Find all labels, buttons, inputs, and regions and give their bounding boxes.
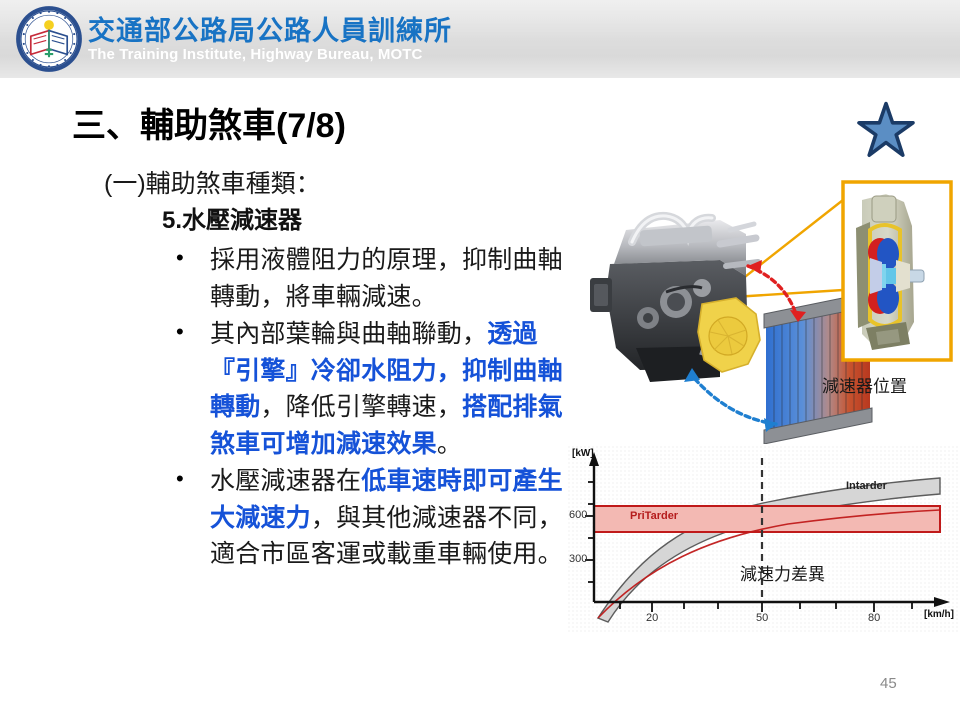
- bullet-marker-icon: •: [174, 463, 210, 495]
- bullet-text: 採用液體阻力的原理，抑制曲軸轉動，將車輛減速。: [210, 242, 564, 315]
- page-number: 45: [880, 675, 897, 692]
- engine-retarder-diagram: [570, 172, 956, 444]
- y-tick-600: 600: [569, 509, 587, 521]
- page-header: 交通部公路局公路人員訓練所 The Training Institute, Hi…: [0, 0, 960, 78]
- list-item: • 其內部葉輪與曲軸聯動，透過 『引擎』冷卻水阻力，抑制曲軸轉動，降低引擎轉速，…: [174, 316, 564, 462]
- engine-figure-caption: 減速器位置: [822, 372, 907, 397]
- text-run: ，降低引擎轉速，: [260, 393, 462, 421]
- pritarder-annotation: PriTarder: [630, 510, 678, 522]
- organization-subtitle: The Training Institute, Highway Bureau, …: [88, 46, 422, 63]
- bullet-text: 水壓減速器在低車速時即可產生大減速力，與其他減速器不同，適合市區客運或載重車輛使…: [210, 463, 564, 573]
- x-tick-20: 20: [646, 612, 658, 624]
- slide-body: (一)輔助煞車種類： 5.水壓減速器 • 採用液體阻力的原理，抑制曲軸轉動，將車…: [104, 168, 564, 574]
- text-run: 。: [437, 430, 462, 458]
- intarder-annotation: Intarder: [846, 480, 887, 492]
- list-item: • 水壓減速器在低車速時即可產生大減速力，與其他減速器不同，適合市區客運或載重車…: [174, 463, 564, 573]
- bullet-marker-icon: •: [174, 242, 210, 274]
- retarder-power-chart: [kW] 600 300 20 50 80 [km/h] PriTarder I…: [568, 446, 958, 632]
- water-retarder-part: [698, 298, 760, 372]
- institute-seal-icon: [14, 4, 84, 74]
- bullet-text: 其內部葉輪與曲軸聯動，透過 『引擎』冷卻水阻力，抑制曲軸轉動，降低引擎轉速，搭配…: [210, 316, 564, 462]
- page-title: 三、輔助煞車(7/8): [72, 98, 346, 147]
- cold-coolant-arrow: [694, 378, 776, 424]
- bullet-list: • 採用液體阻力的原理，抑制曲軸轉動，將車輛減速。 • 其內部葉輪與曲軸聯動，透…: [174, 242, 564, 573]
- item-label: 5.水壓減速器: [162, 205, 564, 236]
- x-tick-80: 80: [868, 612, 880, 624]
- blue-star-icon: [855, 100, 917, 160]
- text-run: 採用液體阻力的原理，抑制曲軸轉動，將車輛減速。: [210, 246, 563, 311]
- chart-figure-caption: 減速力差異: [740, 560, 825, 585]
- list-item: • 採用液體阻力的原理，抑制曲軸轉動，將車輛減速。: [174, 242, 564, 315]
- x-tick-50: 50: [756, 612, 768, 624]
- retarder-cutaway-inset: [843, 182, 951, 360]
- organization-title: 交通部公路局公路人員訓練所: [88, 9, 452, 48]
- text-run: 其內部葉輪與曲軸聯動，: [210, 320, 487, 348]
- y-tick-300: 300: [569, 553, 587, 565]
- section-label: (一)輔助煞車種類：: [104, 168, 564, 201]
- y-axis-label: [kW]: [572, 448, 594, 459]
- hot-coolant-arrow: [748, 266, 796, 314]
- text-run: 水壓減速器在: [210, 467, 361, 495]
- x-axis-label: [km/h]: [924, 609, 954, 620]
- bullet-marker-icon: •: [174, 316, 210, 348]
